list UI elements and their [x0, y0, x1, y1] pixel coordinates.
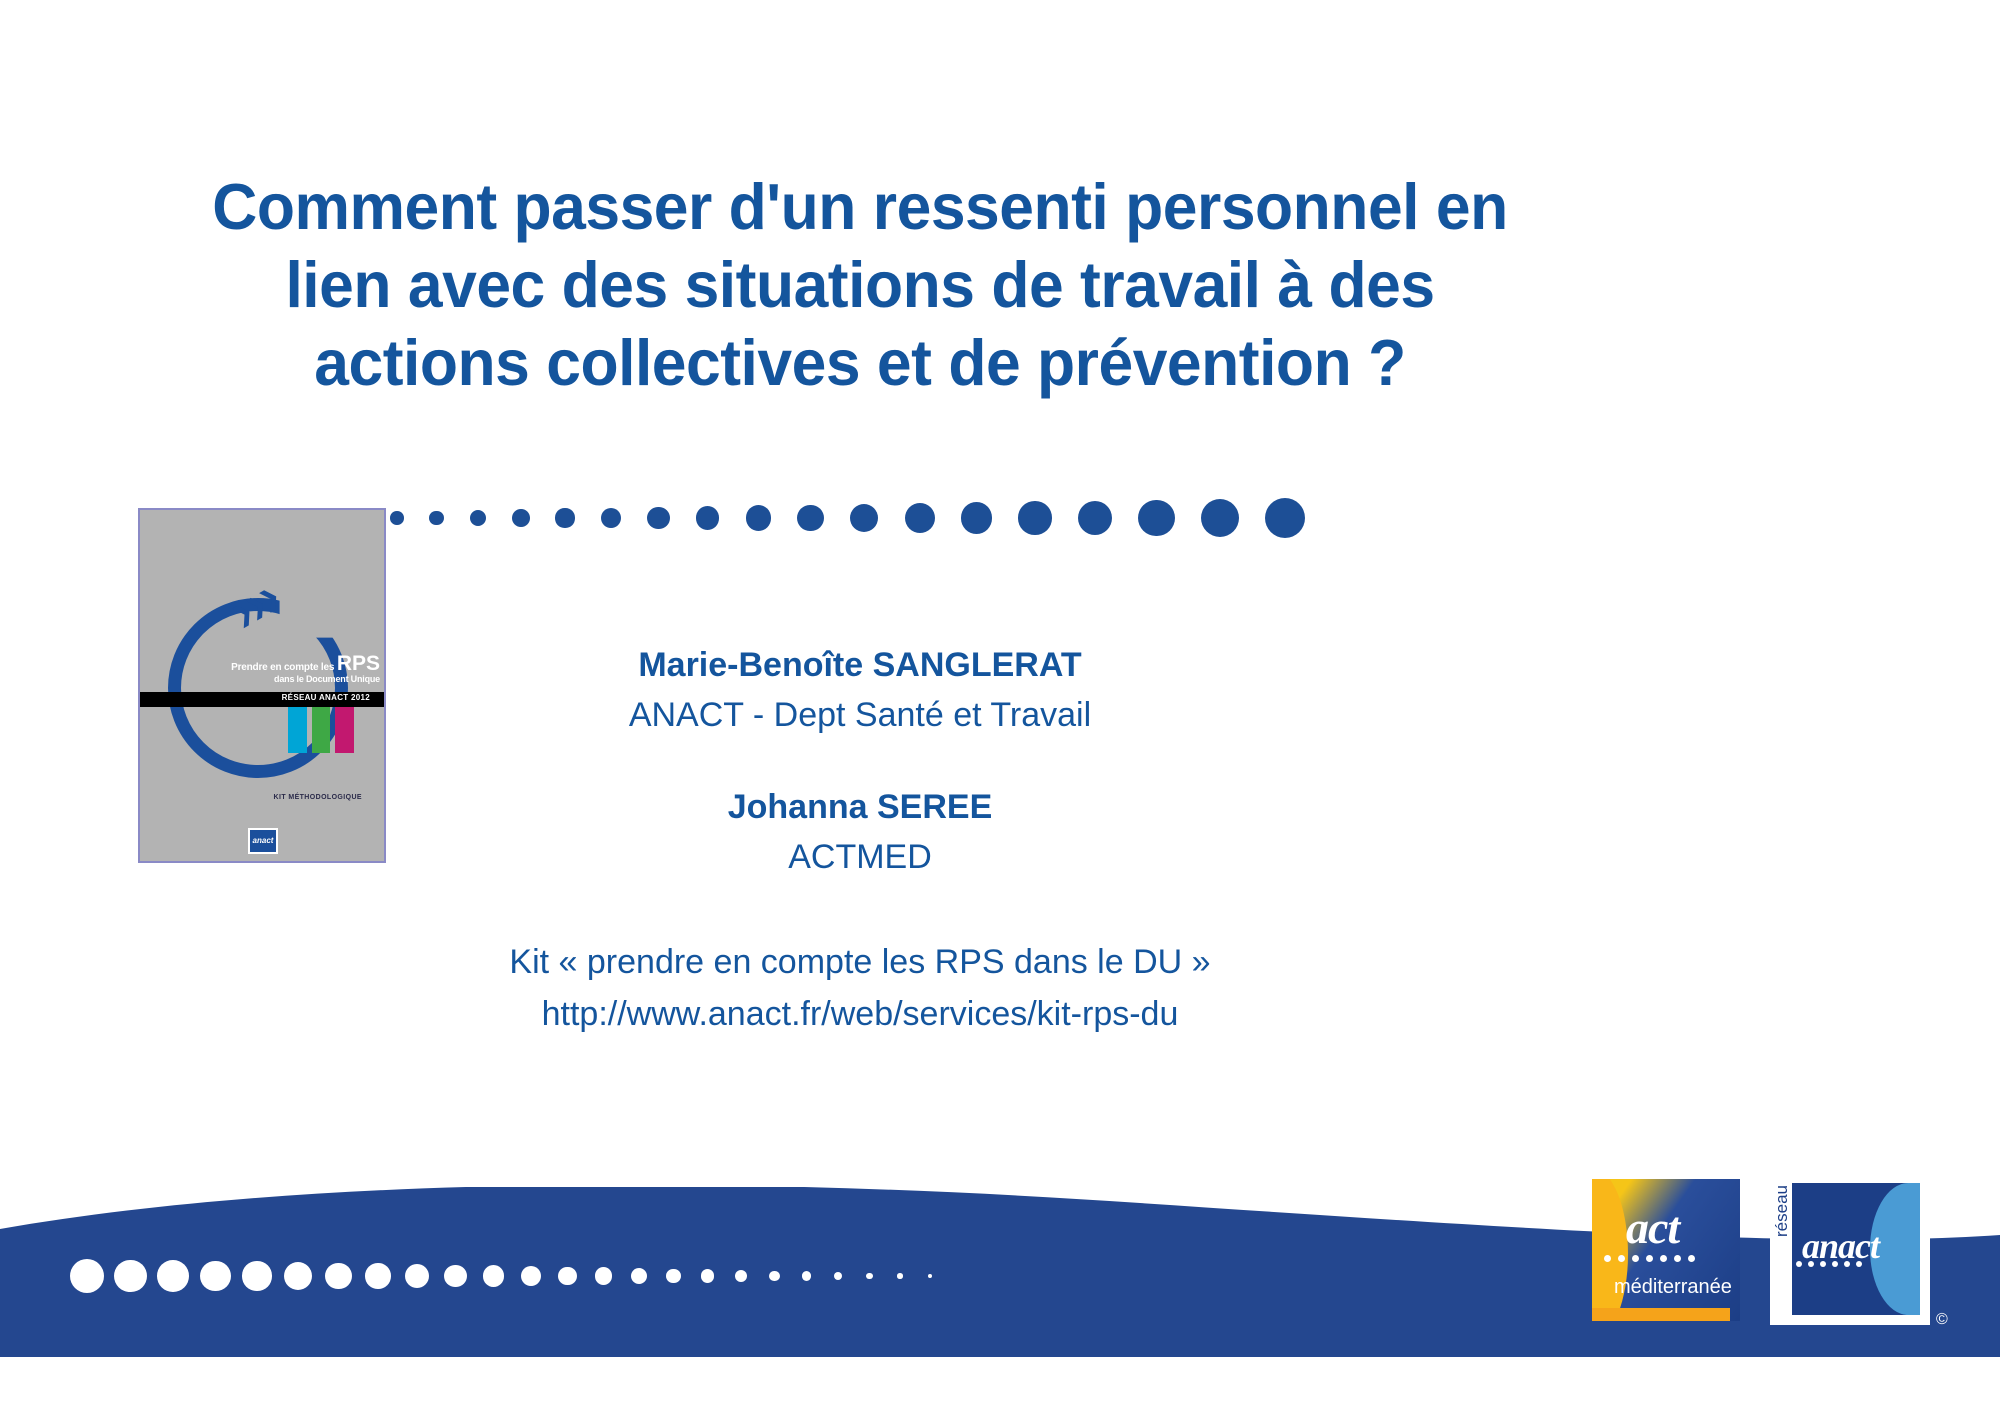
kit-label: Kit « prendre en compte les RPS dans le …	[420, 936, 1300, 988]
title-dot-decoration	[250, 478, 1370, 548]
footer-dot	[444, 1265, 467, 1288]
footer-dot	[802, 1271, 811, 1280]
kit-url-link[interactable]: http://www.anact.fr/web/services/kit-rps…	[420, 988, 1300, 1040]
footer-dot	[834, 1272, 842, 1280]
act-logo-dot	[1660, 1255, 1667, 1262]
book-cover-title: Prendre en compte les RPS dans le Docume…	[174, 658, 380, 685]
act-logo-dot	[1632, 1255, 1639, 1262]
title-dot	[1201, 499, 1239, 537]
footer-dot	[405, 1264, 429, 1288]
act-logo-bar	[1592, 1308, 1730, 1321]
footer-dot	[200, 1261, 230, 1291]
kit-reference-block: Kit « prendre en compte les RPS dans le …	[420, 936, 1300, 1040]
footer-dot	[483, 1265, 504, 1286]
title-dot	[390, 511, 404, 525]
title-line-2: lien avec des situations de travail à de…	[188, 246, 1532, 324]
credits-spacer	[420, 740, 1300, 782]
title-dot	[1078, 501, 1113, 536]
book-kit-label: KIT MÉTHODOLOGIQUE	[274, 794, 362, 801]
act-mediterranee-logo: act méditerranée	[1592, 1179, 1740, 1321]
title-dot	[905, 503, 935, 533]
act-logo-dot	[1688, 1255, 1695, 1262]
title-dot	[429, 511, 444, 526]
footer-dot	[114, 1260, 147, 1293]
title-line-3: actions collectives et de prévention ?	[188, 324, 1532, 402]
title-dot	[746, 505, 771, 530]
book-title-dans-le: dans le	[274, 674, 304, 684]
anact-logo-dot	[1832, 1261, 1838, 1267]
anact-logo-dot	[1820, 1261, 1826, 1267]
footer-dot	[157, 1260, 189, 1292]
book-anact-logo: anact	[248, 828, 278, 854]
footer-dot	[866, 1273, 873, 1280]
footer-dot	[631, 1268, 647, 1284]
title-dot	[696, 506, 720, 530]
footer-dot	[769, 1271, 780, 1282]
author2-name: Johanna SEREE	[420, 782, 1300, 832]
book-anact-logo-text: anact	[250, 830, 276, 852]
copyright-symbol: ©	[1936, 1311, 1948, 1329]
anact-logo-inner: anact	[1792, 1183, 1920, 1315]
title-dot	[555, 508, 574, 527]
footer-dot	[70, 1259, 104, 1293]
footer-dot	[666, 1269, 681, 1284]
footer-dot	[558, 1267, 577, 1286]
act-logo-dot	[1674, 1255, 1681, 1262]
book-band-text: RÉSEAU ANACT 2012	[282, 693, 370, 702]
book-color-bars	[288, 707, 354, 753]
act-logo-dot	[1646, 1255, 1653, 1262]
book-cover-image: ❯❯❯ Prendre en compte les RPS dans le Do…	[138, 508, 386, 863]
footer-dot	[928, 1274, 932, 1278]
footer-dot	[897, 1273, 902, 1278]
act-logo-dot	[1618, 1255, 1625, 1262]
title-dot	[850, 504, 878, 532]
author2-org: ACTMED	[420, 832, 1300, 882]
author1-name: Marie-Benoîte SANGLERAT	[420, 640, 1300, 690]
footer-dot	[701, 1269, 715, 1283]
anact-logo-dots	[1796, 1261, 1862, 1267]
footer-dot	[284, 1262, 312, 1290]
footer-dot	[365, 1263, 390, 1288]
anact-logo-dot	[1844, 1261, 1850, 1267]
footer-dot	[595, 1267, 613, 1285]
footer-dot	[242, 1261, 271, 1290]
presentation-slide: Comment passer d'un ressenti personnel e…	[0, 0, 2000, 1413]
book-bar-magenta	[335, 707, 354, 753]
author1-org: ANACT - Dept Santé et Travail	[420, 690, 1300, 740]
anact-logo-dot	[1856, 1261, 1862, 1267]
footer-dot	[325, 1263, 352, 1290]
title-dot	[961, 502, 993, 534]
book-title-rps: RPS	[337, 652, 380, 675]
title-line-1: Comment passer d'un ressenti personnel e…	[188, 168, 1532, 246]
credits-block: Marie-Benoîte SANGLERAT ANACT - Dept San…	[420, 640, 1300, 1040]
title-dot	[470, 510, 486, 526]
title-dot	[1018, 501, 1051, 534]
book-bar-green	[312, 707, 331, 753]
title-dot	[1138, 500, 1175, 537]
act-logo-dots	[1604, 1255, 1695, 1262]
book-title-les: les	[321, 662, 334, 673]
title-dot	[512, 509, 530, 527]
anact-logo-dot	[1808, 1261, 1814, 1267]
act-logo-wordmark: act	[1626, 1201, 1679, 1254]
footer-dot-decoration	[70, 1251, 990, 1301]
book-bar-cyan	[288, 707, 307, 753]
title-dot	[601, 508, 622, 529]
anact-logo-dot	[1796, 1261, 1802, 1267]
anact-logo-prefix: réseau	[1772, 1185, 1792, 1237]
title-dot	[647, 507, 669, 529]
footer-dot	[521, 1266, 541, 1286]
page-title: Comment passer d'un ressenti personnel e…	[160, 168, 1560, 402]
footer-dot	[735, 1270, 747, 1282]
book-title-main: Prendre en compte les RPS	[174, 658, 380, 674]
book-title-prefix: Prendre en compte	[231, 662, 318, 673]
book-title-sub: dans le Document Unique	[174, 674, 380, 685]
act-logo-dot	[1604, 1255, 1611, 1262]
book-title-du: Document Unique	[306, 674, 380, 684]
act-logo-subtitle: méditerranée	[1614, 1276, 1732, 1299]
act-logo-swoosh	[1592, 1179, 1628, 1321]
title-dot	[1265, 498, 1305, 538]
title-dot	[797, 505, 824, 532]
reseau-anact-logo: réseau anact	[1770, 1175, 1930, 1325]
